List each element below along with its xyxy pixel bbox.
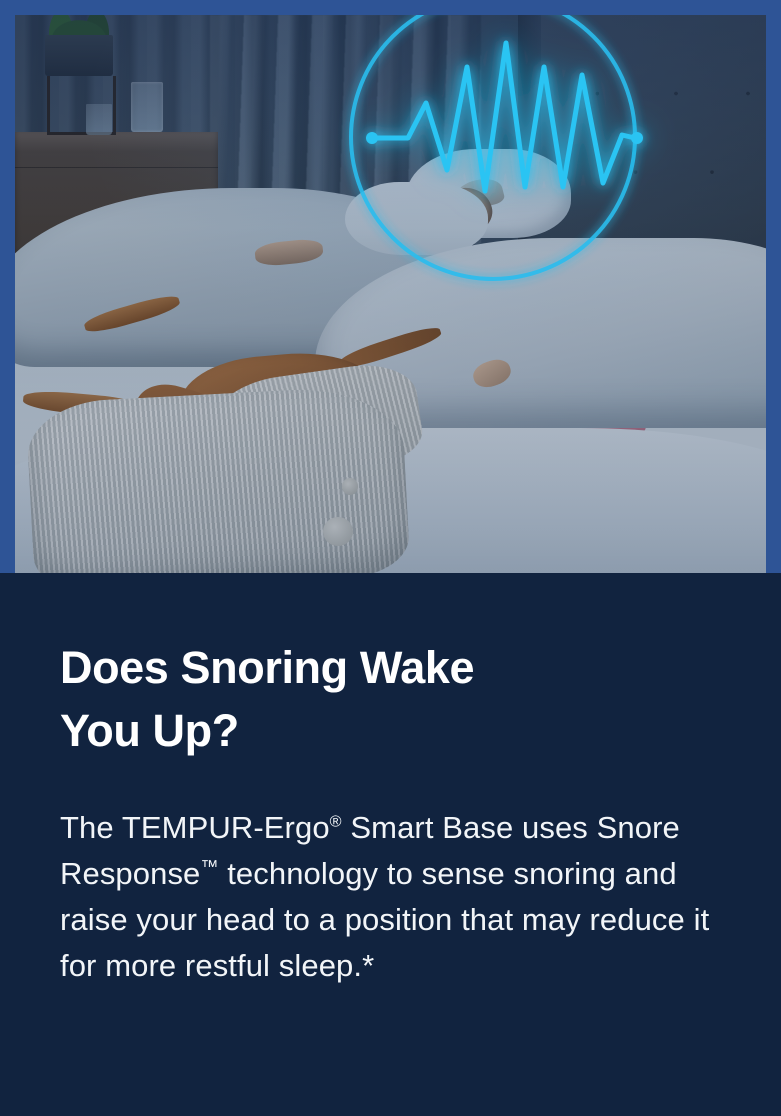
page-title: Does Snoring Wake You Up?	[60, 573, 620, 762]
throw-pompom-small	[342, 478, 359, 495]
plant-pot	[45, 35, 113, 77]
snore-response-promo-card: Does Snoring Wake You Up? The TEMPUR-Erg…	[0, 0, 781, 1116]
hero-image-frame	[0, 0, 781, 573]
copy-panel: Does Snoring Wake You Up? The TEMPUR-Erg…	[0, 573, 781, 1116]
throw-pompom	[323, 517, 353, 546]
body-copy: The TEMPUR-Ergo® Smart Base uses Snore R…	[60, 762, 710, 989]
drinking-glass	[86, 104, 112, 135]
headline-line-1: Does Snoring Wake	[60, 642, 474, 693]
trademark-symbol: ™	[200, 857, 218, 877]
bedroom-photo	[15, 15, 766, 573]
water-carafe	[131, 82, 163, 132]
body-prefix: The TEMPUR-Ergo	[60, 810, 330, 845]
registered-trademark-symbol: ®	[330, 813, 342, 831]
headline-line-2: You Up?	[60, 705, 239, 756]
pillow-extra	[345, 182, 488, 255]
